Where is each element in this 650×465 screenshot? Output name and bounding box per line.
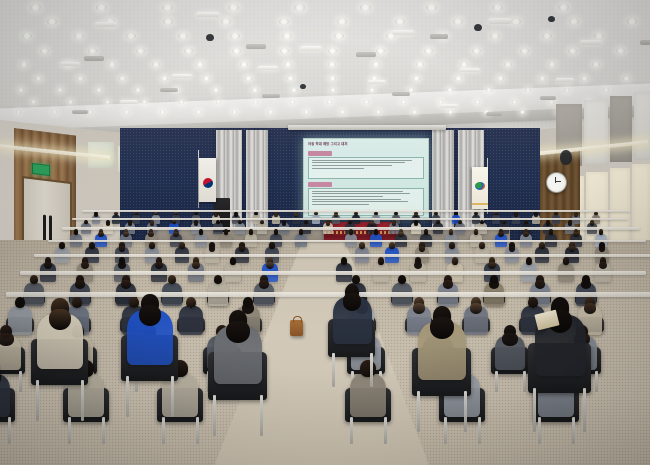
ceiling-speaker [300,84,306,89]
audience-member-head [341,257,348,265]
ceiling-downlight [160,110,165,114]
ceiling-speaker [474,24,482,31]
chair-leg [36,380,39,420]
audience-member-head [274,229,279,234]
audience-member-head [526,257,533,265]
ceiling-slot-light [95,22,117,27]
audience-member-head [269,242,275,248]
audience-member-head [502,220,506,224]
ceiling-downlight [539,76,546,81]
audience-member-hair [118,262,126,269]
chair-leg [595,371,598,392]
ceiling-downlight [77,76,84,81]
audience-member-head [230,257,237,265]
lecture-hall-photo: 아동 학대 예방 그리고 대처 [0,0,650,465]
ceiling-downlight [16,110,21,114]
ceiling-downlight [124,110,129,114]
chair-leg [417,391,420,432]
ceiling-downlight [448,110,453,114]
audience-member-head [494,212,497,216]
ceiling-slot-light [258,66,278,70]
audience-member-head [389,242,395,248]
audience-member-head [74,229,79,234]
chair-leg [171,376,174,416]
ceiling-downlight [364,100,370,104]
ceiling-downlight [568,48,577,54]
ceiling-downlight [184,48,193,54]
ceiling-downlight [88,110,93,114]
chair-leg [444,417,447,443]
audience-member-head [354,212,357,216]
ceiling-downlight [327,100,333,104]
chair-leg [332,353,335,387]
ceiling-downlight [413,76,420,81]
ceiling-downlight [216,100,222,104]
audience-member-head [449,229,454,234]
ceiling-slot-light [460,68,480,72]
ceiling-downlight [497,76,504,81]
audience-member-hair [81,262,89,269]
ceiling-downlight [401,100,407,104]
attendee-hair [430,317,453,339]
ceiling-downlight [253,100,259,104]
audience-member-hair [488,262,496,269]
ceiling-downlight [512,100,518,104]
audience-member-head [260,220,264,224]
ceiling-air-vent [392,92,410,96]
ceiling-slot-light [196,12,220,17]
audience-member-head [134,212,137,216]
audience-member-head [84,220,88,224]
ceiling-air-vent [486,112,502,116]
institution-emblem-icon [475,182,485,190]
slide-section-label-1 [308,151,332,156]
audience-member-head [129,297,139,308]
ceiling-downlight [40,48,49,54]
chair-leg [19,371,22,392]
ceiling-downlight [105,100,111,104]
projection-screen-rail [288,125,446,130]
institution-flag [472,167,488,209]
ceiling-slot-light [368,80,386,84]
ceiling-downlight [616,48,625,54]
audience-member-head [249,229,254,234]
ceiling-downlight [161,76,168,81]
audience-member-head [149,242,155,248]
ceiling-downlight [424,48,433,54]
ceiling-downlight [232,110,237,114]
audience-member-head [454,212,457,216]
ceiling-downlight [142,100,148,104]
ceiling-downlight [203,76,210,81]
ceiling-downlight [472,48,481,54]
ceiling-air-vent [356,52,376,57]
audience-member-hair [0,333,14,346]
audience-member-hair [599,262,607,269]
institution-flag-band [472,203,488,205]
ceiling-downlight [245,76,252,81]
slide-section-label-2 [308,182,332,187]
ceiling-air-vent [262,94,280,98]
wall-acoustic-panel [634,92,650,160]
audience-member-hair [155,262,163,269]
audience-member-head [458,220,462,224]
chair-leg [538,417,541,443]
ceiling-slot-light [392,30,414,35]
audience-member-head [480,220,484,224]
ceiling-downlight [119,76,126,81]
slide-content-block-1 [308,157,424,179]
chair-leg [213,395,216,436]
ceiling-downlight [475,100,481,104]
ceiling-downlight [290,100,296,104]
ceiling-speaker [548,16,555,22]
handbag [290,320,303,336]
audience-member-head [474,212,477,216]
chair-leg [68,417,71,443]
ceiling-downlight [280,48,289,54]
ceiling-slot-light [300,46,322,51]
ceiling-speaker [206,34,214,41]
audience-member-head [224,229,229,234]
wall-clock [546,172,567,193]
audience-member-head [436,220,440,224]
ceiling-downlight [520,110,525,114]
audience-member-head [299,229,304,234]
audience-member-head [254,212,257,216]
chair-leg [8,417,11,443]
audience-member-head [174,212,177,216]
audience-member-head [374,212,377,216]
ceiling-downlight [52,110,57,114]
audience-member-head [539,242,545,248]
audience-member-head [304,220,308,224]
ceiling-downlight [31,100,37,104]
audience-member-head [374,229,379,234]
audience-member-head [172,220,176,224]
audience-member-hair [44,262,52,269]
audience-member-head [394,212,397,216]
audience-member-hair [266,262,274,269]
chair-leg [464,391,467,432]
ceiling-slot-light [60,62,80,66]
ceiling-downlight [412,110,417,114]
audience-member-head [59,242,65,248]
chair-leg [370,353,373,387]
audience-member-head [528,297,538,308]
chair-leg [81,380,84,420]
projection-screen: 아동 학대 예방 그리고 대처 [303,138,429,218]
audience-member-head [594,212,597,216]
ceiling-air-vent [72,110,88,114]
ceiling-downlight [520,48,529,54]
korean-national-flag [199,158,216,202]
audience-member-head [549,229,554,234]
audience-member-head [434,212,437,216]
audience-member-head [360,360,376,377]
audience-member-head [216,220,220,224]
ceiling-slot-light [580,40,602,45]
wall-acoustic-panel [584,100,608,164]
audience-member-head [89,242,95,248]
audience-member-head [524,220,528,224]
ceiling-downlight [232,48,241,54]
ceiling-downlight [340,110,345,114]
audience-member-head [238,220,242,224]
ceiling-downlight [549,100,555,104]
exit-sign-icon [32,163,50,176]
taeguk-circle-icon [203,178,213,188]
ceiling-air-vent [84,56,104,61]
chair-leg [162,417,165,443]
ceiling-downlight [623,76,630,81]
audience-member-head [194,212,197,216]
chair-leg [495,371,498,392]
wall-acoustic-panel [610,96,632,162]
audience-member-head [449,242,455,248]
audience-member-head [474,229,479,234]
chair-leg [126,376,129,416]
audience-member-head [563,257,570,265]
audience-member-head [114,212,117,216]
chair-leg [350,417,353,443]
audience-member-head [186,297,196,308]
chair-leg [384,417,387,443]
ceiling-downlight [328,48,337,54]
ceiling-downlight [35,76,42,81]
wall-speaker-right [560,150,572,165]
audience-member-head [378,257,385,265]
ceiling-downlight [329,76,336,81]
ceiling-air-vent [540,96,556,100]
ceiling-slot-light [488,18,512,24]
ceiling-downlight [304,110,309,114]
ceiling-downlight [581,76,588,81]
audience-member-head [452,257,459,265]
audience-member-hair [414,262,422,269]
ceiling-slot-light [120,100,138,104]
chair-leg [102,417,105,443]
attendee-hair [226,321,249,343]
audience-member-head [199,229,204,234]
ceiling-downlight [179,100,185,104]
ceiling-air-vent [246,44,266,49]
audience-member-head [15,297,25,308]
ceiling-downlight [268,110,273,114]
ceiling-downlight [88,48,97,54]
audience-desk [6,292,650,297]
ceiling-downlight [136,48,145,54]
audience-member-head [72,297,82,308]
ceiling-slot-light [440,104,458,108]
ceiling-air-vent [640,40,650,45]
audience-member-head [359,242,365,248]
audience-member-head [348,220,352,224]
ceiling-downlight [68,100,74,104]
audience-member-head [554,212,557,216]
audience-desk [20,271,646,275]
audience-member-hair [192,262,200,269]
audience-member-body [179,306,204,335]
audience-member-hair [502,333,517,346]
chair-leg [523,371,526,392]
chair-leg [572,417,575,443]
chair-leg [583,388,586,432]
audience-member-head [349,229,354,234]
audience-member-head [599,229,604,234]
audience-member-head [479,242,485,248]
ceiling-downlight [287,76,294,81]
audience-member-head [424,229,429,234]
ceiling-downlight [376,110,381,114]
audience-member-head [154,212,157,216]
slide-title: 아동 학대 예방 그리고 대처 [308,142,424,147]
chair-leg [196,417,199,443]
chair-leg [260,395,263,436]
ceiling-slot-light [556,78,574,82]
audience-member-head [179,242,185,248]
ceiling-air-vent [430,34,448,39]
ceiling-downlight [196,110,201,114]
audience-member-head [314,212,317,216]
ceiling-slot-light [172,74,192,78]
chair-leg [478,417,481,443]
ceiling-downlight [376,48,385,54]
audience-member-body [350,374,387,417]
ceiling-downlight [455,76,462,81]
ceiling-air-vent [160,88,178,92]
